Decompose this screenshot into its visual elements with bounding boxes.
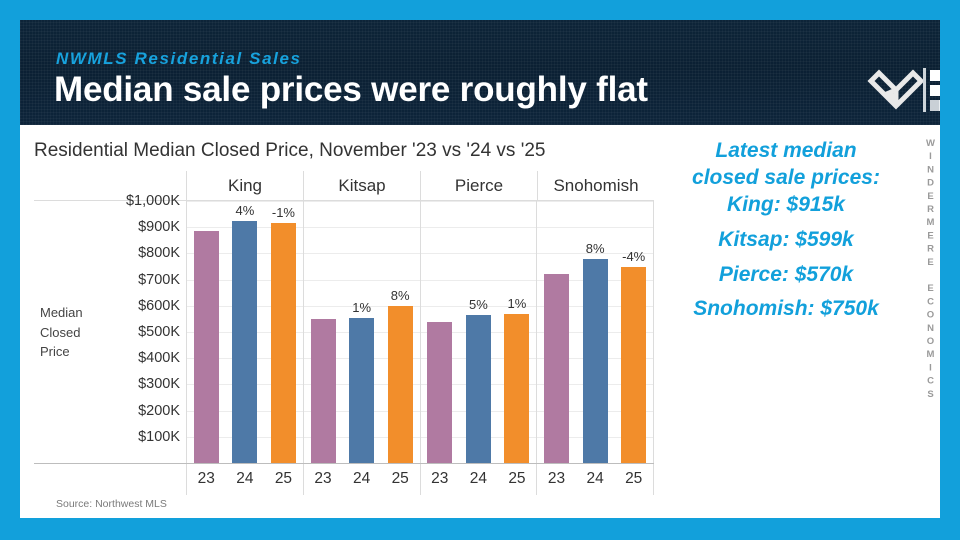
bar-king-25[interactable] (271, 223, 296, 463)
y-axis-tick-label: $900K (138, 219, 180, 235)
bar-slot: 1% (344, 201, 379, 463)
y-axis: Median Closed Price $1,000K$900K$800K$70… (34, 201, 186, 463)
y-axis-tick-label: $200K (138, 403, 180, 419)
windermere-e-logo (923, 66, 940, 114)
source-note: Source: Northwest MLS (56, 498, 167, 510)
bar-slot: 8% (578, 201, 613, 463)
x-axis-tick-label: 23 (537, 464, 576, 495)
y-axis-tick-label: $300K (138, 376, 180, 392)
vertical-brand-text: WINDERMERE ECONOMICS (914, 138, 936, 402)
info-panel-heading: Latest median closed sale prices: King: … (666, 138, 906, 219)
bar-king-24[interactable] (232, 221, 257, 463)
bar-pierce-25[interactable] (504, 314, 529, 463)
bar-pct-label: 4% (235, 203, 254, 218)
bar-kitsap-25[interactable] (388, 306, 413, 463)
bar-pct-label: -4% (622, 249, 645, 264)
y-axis-title-line3: Price (40, 342, 108, 362)
bar-pct-label: 5% (469, 297, 488, 312)
bar-pct-label: 1% (352, 300, 371, 315)
bar-slot: -4% (616, 201, 651, 463)
y-axis-tick-label: $400K (138, 350, 180, 366)
bar-slot (422, 201, 457, 463)
x-axis-tick-label: 25 (381, 464, 420, 495)
chart-panel-king: 4%-1% (186, 201, 303, 463)
y-axis-tick-label: $100K (138, 429, 180, 445)
x-axis-tick-label: 24 (459, 464, 498, 495)
x-axis-tick-label: 23 (421, 464, 460, 495)
bar-slot: 5% (461, 201, 496, 463)
bar-pierce-23[interactable] (427, 322, 452, 463)
bar-slot: 1% (500, 201, 535, 463)
chart-panel-pierce: 5%1% (420, 201, 537, 463)
column-header-kitsap: Kitsap (303, 171, 420, 200)
x-axis-tick-label: 23 (187, 464, 226, 495)
x-axis-tick-label: 24 (576, 464, 615, 495)
info-item-kitsap: Kitsap: $599k (666, 227, 906, 254)
frame-right-border (940, 0, 960, 540)
y-axis-title-line1: Median (40, 303, 108, 323)
y-axis-title: Median Closed Price (40, 303, 108, 362)
info-panel: Latest median closed sale prices: King: … (666, 138, 906, 331)
bar-pierce-24[interactable] (466, 315, 491, 463)
x-axis-panel-snohomish: 232425 (536, 464, 654, 495)
bar-pct-label: 8% (586, 241, 605, 256)
x-axis-tick-label: 25 (264, 464, 303, 495)
bar-snohomish-23[interactable] (544, 274, 569, 463)
bar-pct-label: -1% (272, 205, 295, 220)
bar-slot (306, 201, 341, 463)
bar-slot: 4% (228, 201, 263, 463)
chart-x-axis: 232425232425232425232425 (34, 463, 654, 495)
column-header-king: King (186, 171, 303, 200)
y-axis-tick-label: $1,000K (126, 193, 180, 209)
info-item-king: King: $915k (666, 192, 906, 219)
header-headline: Median sale prices were roughly flat (54, 70, 648, 110)
x-axis-panel-king: 232425 (186, 464, 303, 495)
chart-title: Residential Median Closed Price, Novembe… (34, 140, 659, 162)
frame-top-border (0, 0, 960, 20)
y-axis-tick-label: $600K (138, 298, 180, 314)
bar-kitsap-24[interactable] (349, 318, 374, 463)
bar-slot (539, 201, 574, 463)
x-axis-gap (34, 464, 186, 495)
bar-slot: -1% (266, 201, 301, 463)
bar-king-23[interactable] (194, 231, 219, 463)
bar-group: 1%8% (304, 201, 420, 463)
bar-snohomish-24[interactable] (583, 259, 608, 463)
y-axis-tick-label: $500K (138, 324, 180, 340)
x-axis-tick-label: 24 (342, 464, 381, 495)
bar-group: 4%-1% (187, 201, 303, 463)
slide: NWMLS Residential Sales Median sale pric… (0, 0, 960, 540)
column-header-snohomish: Snohomish (537, 171, 654, 200)
header-eyebrow: NWMLS Residential Sales (56, 49, 302, 69)
x-axis-panel-pierce: 232425 (420, 464, 537, 495)
info-heading-line2: closed sale prices: (666, 165, 906, 192)
column-header-pierce: Pierce (420, 171, 537, 200)
bar-group: 5%1% (421, 201, 537, 463)
info-heading-line1: Latest median (666, 138, 906, 165)
x-axis-tick-label: 24 (226, 464, 265, 495)
chart-plot-row: Median Closed Price $1,000K$900K$800K$70… (34, 201, 654, 463)
chart-panels: 4%-1%1%8%5%1%8%-4% (186, 201, 654, 463)
x-axis-tick-label: 25 (614, 464, 653, 495)
y-axis-tick-label: $800K (138, 245, 180, 261)
chart-container: Residential Median Closed Price, Novembe… (34, 140, 659, 520)
bar-snohomish-25[interactable] (621, 267, 646, 464)
bar-slot (189, 201, 224, 463)
bar-pct-label: 1% (508, 296, 527, 311)
windermere-w-logo (865, 67, 927, 113)
y-axis-title-line2: Closed (40, 322, 108, 342)
bar-kitsap-23[interactable] (311, 319, 336, 463)
chart-grid: King Kitsap Pierce Snohomish Median Clos… (34, 171, 654, 495)
bar-group: 8%-4% (537, 201, 653, 463)
frame-bottom-border (0, 518, 960, 540)
x-axis-tick-label: 23 (304, 464, 343, 495)
chart-panel-kitsap: 1%8% (303, 201, 420, 463)
bar-slot: 8% (383, 201, 418, 463)
chart-panel-snohomish: 8%-4% (536, 201, 654, 463)
info-item-pierce: Pierce: $570k (666, 262, 906, 289)
bar-pct-label: 8% (391, 288, 410, 303)
info-item-snohomish: Snohomish: $750k (666, 296, 906, 323)
x-axis-tick-label: 25 (498, 464, 537, 495)
y-axis-tick-label: $700K (138, 272, 180, 288)
frame-left-border (0, 0, 20, 540)
x-axis-panel-kitsap: 232425 (303, 464, 420, 495)
slide-header: NWMLS Residential Sales Median sale pric… (20, 20, 940, 125)
